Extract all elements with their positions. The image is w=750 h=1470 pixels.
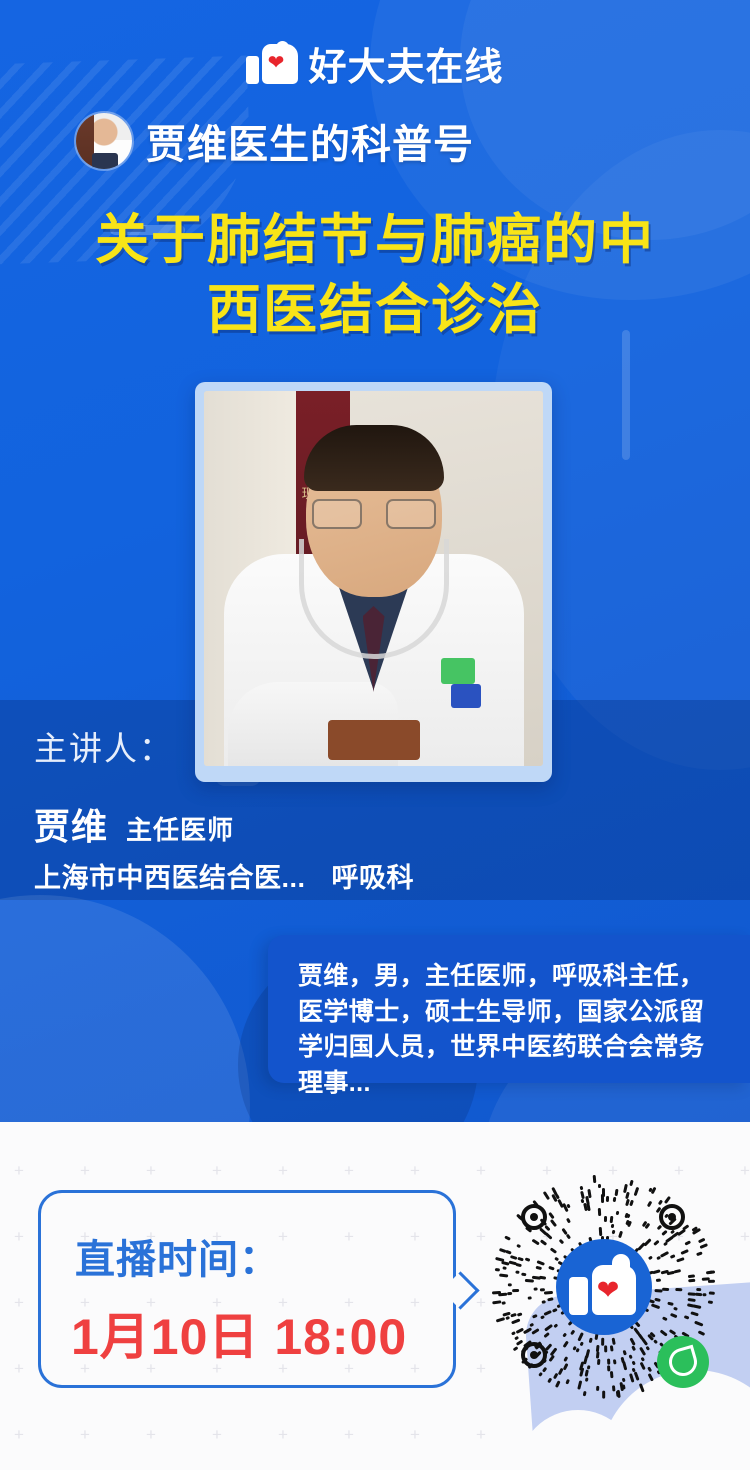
title-line-1: 关于肺结节与肺癌的中 — [0, 205, 750, 275]
speaker-hospital: 上海市中西医结合医... — [34, 856, 306, 895]
speaker-title: 主任医师 — [126, 810, 234, 847]
live-promo-poster: ❤ 好大夫在线 贾维医生的科普号 关于肺结节与肺癌的中 西医结合诊治 — [0, 0, 750, 1470]
speaker-label: 主讲人： — [34, 722, 174, 770]
speaker-department: 呼吸科 — [332, 856, 415, 895]
speaker-name: 贾维 — [34, 798, 108, 850]
thumbs-up-heart-icon: ❤ — [246, 42, 298, 86]
account-name: 贾维医生的科普号 — [146, 112, 474, 170]
speaker-bio-text: 贾维，男，主任医师，呼吸科主任，医学博士，硕士生导师，国家公派留学归国人员，世界… — [298, 959, 728, 1101]
title-line-2: 西医结合诊治 — [0, 275, 750, 345]
brand-header: ❤ 好大夫在线 — [0, 36, 750, 91]
vertical-bar-decoration — [622, 330, 630, 460]
brand-name: 好大夫在线 — [308, 36, 503, 91]
circle-decoration — [0, 895, 250, 1130]
live-time-label: 直播时间： — [75, 1227, 280, 1285]
speaker-photo-frame — [195, 382, 552, 782]
account-row[interactable]: 贾维医生的科普号 — [76, 112, 474, 170]
speaker-sub: 上海市中西医结合医... 呼吸科 — [34, 856, 414, 895]
live-time-value: 1月10日 18:00 — [71, 1297, 407, 1369]
speaker-bio-card: 贾维，男，主任医师，呼吸科主任，医学博士，硕士生导师，国家公派留学归国人员，世界… — [268, 935, 750, 1083]
live-time-bubble: 直播时间： 1月10日 18:00 — [38, 1190, 456, 1388]
avatar — [76, 113, 132, 169]
speaker-photo — [204, 391, 543, 766]
thumbs-up-heart-icon: ❤ — [556, 1239, 652, 1335]
page-title: 关于肺结节与肺癌的中 西医结合诊治 — [0, 205, 750, 345]
qrcode[interactable]: ❤ — [493, 1176, 715, 1398]
wechat-miniprogram-icon — [657, 1336, 709, 1388]
speaker-main: 贾维 主任医师 — [34, 798, 234, 850]
